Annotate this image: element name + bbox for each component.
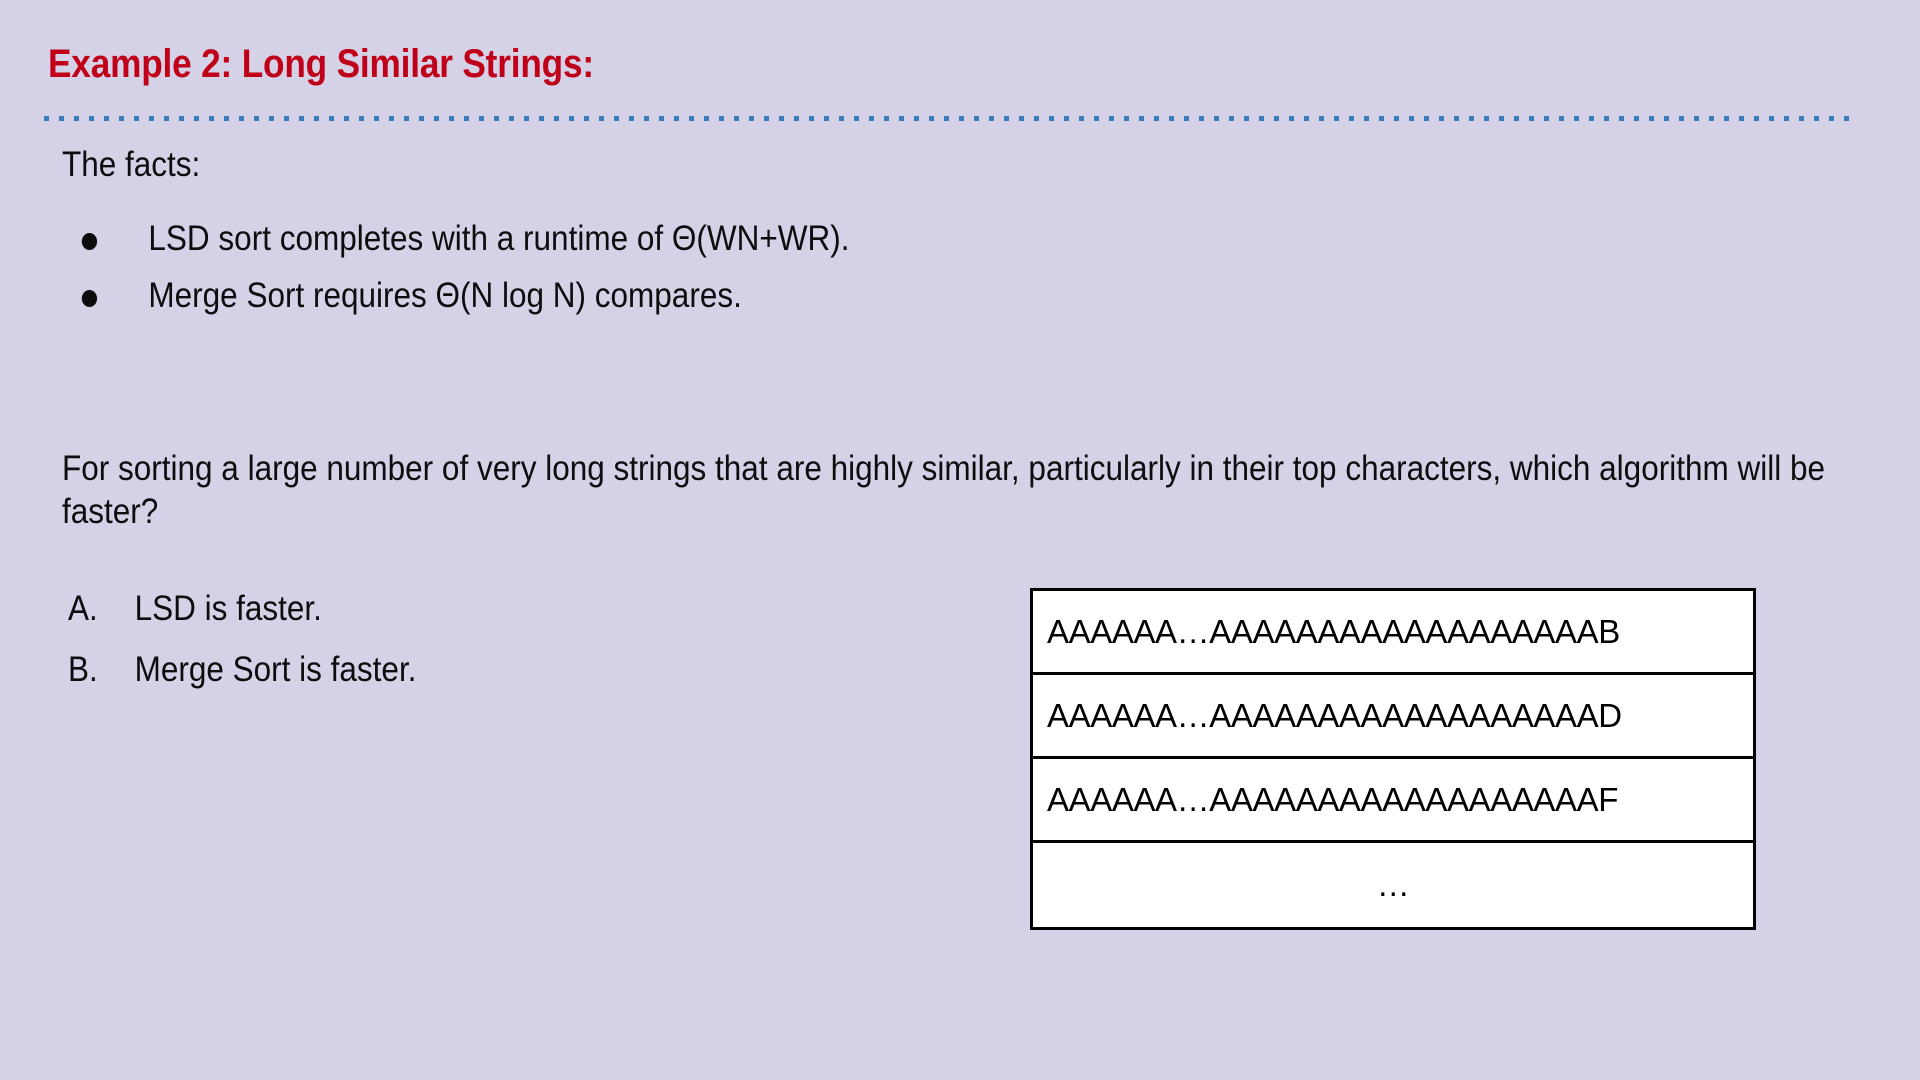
table-row-ellipsis: … [1033, 843, 1753, 927]
bullet-text: Merge Sort requires Θ(N log N) compares. [148, 276, 741, 315]
facts-label: The facts: [62, 144, 200, 187]
answer-option-a[interactable]: A. LSD is faster. [68, 588, 968, 631]
answer-option-b-letter: B. [68, 649, 135, 692]
answer-option-a-text: LSD is faster. [135, 588, 322, 631]
facts-bullet-list: LSD sort completes with a runtime of Θ(W… [62, 218, 1592, 331]
answer-option-b[interactable]: B. Merge Sort is faster. [68, 649, 968, 692]
table-row: AAAAAA…AAAAAAAAAAAAAAAAAAB [1033, 591, 1753, 675]
answer-option-b-text: Merge Sort is faster. [135, 649, 417, 692]
table-row: AAAAAA…AAAAAAAAAAAAAAAAAAF [1033, 759, 1753, 843]
list-item: LSD sort completes with a runtime of Θ(W… [62, 218, 1592, 261]
answer-options: A. LSD is faster. B. Merge Sort is faste… [68, 588, 968, 709]
string-table: AAAAAA…AAAAAAAAAAAAAAAAAAB AAAAAA…AAAAAA… [1030, 588, 1756, 930]
bullet-dot-icon [82, 290, 97, 307]
question-paragraph: For sorting a large number of very long … [62, 448, 1880, 533]
bullet-dot-icon [82, 233, 97, 250]
answer-option-a-letter: A. [68, 588, 135, 631]
bullet-text: LSD sort completes with a runtime of Θ(W… [148, 219, 849, 258]
table-row: AAAAAA…AAAAAAAAAAAAAAAAAAD [1033, 675, 1753, 759]
page-title: Example 2: Long Similar Strings: [48, 42, 594, 87]
list-item: Merge Sort requires Θ(N log N) compares. [62, 275, 1592, 318]
dotted-divider [44, 116, 1856, 121]
slide-canvas: Example 2: Long Similar Strings: The fac… [0, 0, 1920, 1080]
